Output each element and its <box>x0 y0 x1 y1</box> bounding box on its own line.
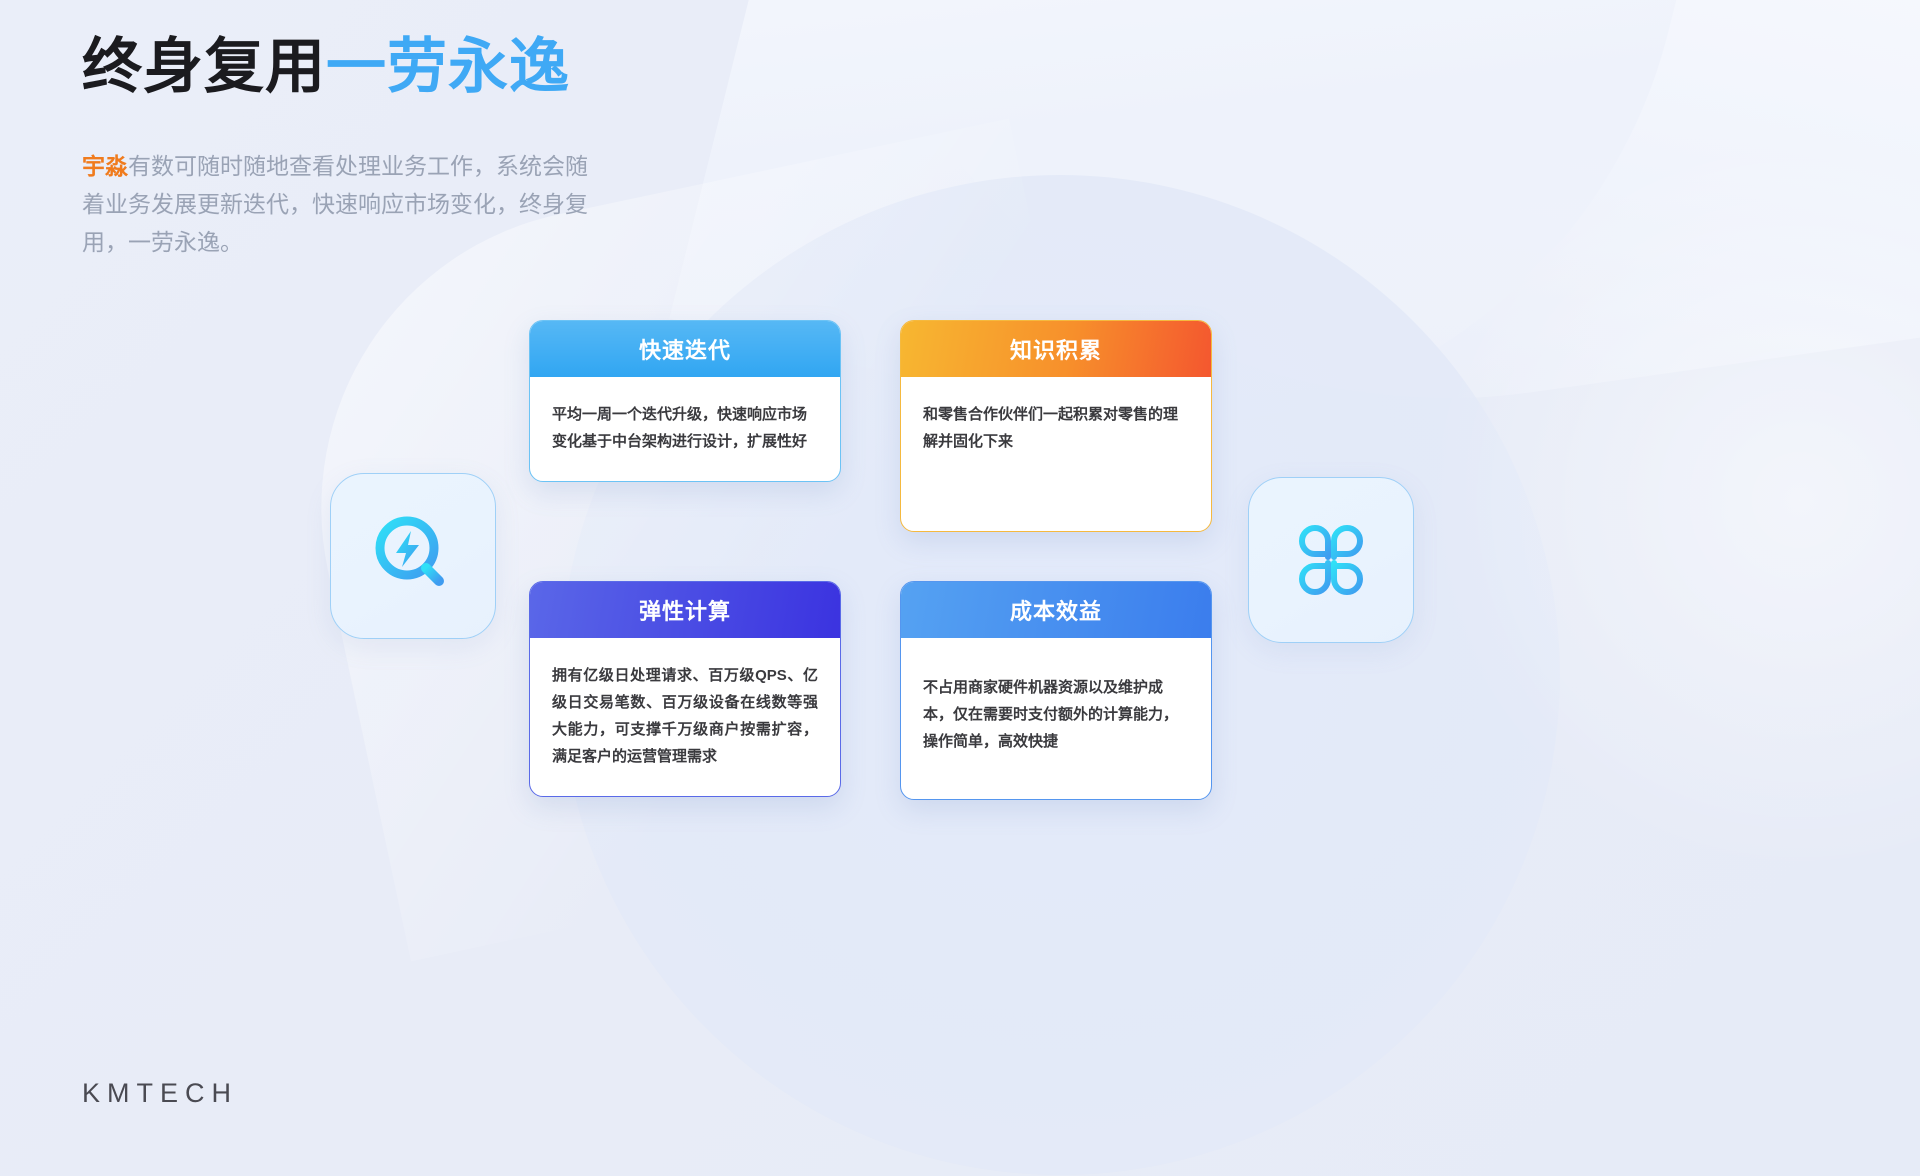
feature-card-cost-benefit[interactable]: 成本效益 不占用商家硬件机器资源以及维护成本，仅在需要时支付额外的计算能力，操作… <box>900 581 1212 800</box>
feature-card-elastic-computing[interactable]: 弹性计算 拥有亿级日处理请求、百万级QPS、亿级日交易笔数、百万级设备在线数等强… <box>529 581 841 797</box>
card-body-cost-benefit: 不占用商家硬件机器资源以及维护成本，仅在需要时支付额外的计算能力，操作简单，高效… <box>901 638 1211 799</box>
card-title-elastic-computing: 弹性计算 <box>530 582 840 638</box>
page-title-blue-part: 一劳永逸 <box>326 33 570 100</box>
page-title-dark-part: 终身复用 <box>82 33 326 100</box>
search-lightning-icon-tile <box>330 473 496 639</box>
subtitle-text: 有数可随时随地查看处理业务工作，系统会随着业务发展更新迭代，快速响应市场变化，终… <box>82 153 588 255</box>
subtitle-paragraph: 宇淼有数可随时随地查看处理业务工作，系统会随着业务发展更新迭代，快速响应市场变化… <box>82 147 602 261</box>
header-block: 终身复用一劳永逸 宇淼有数可随时随地查看处理业务工作，系统会随着业务发展更新迭代… <box>82 32 722 261</box>
brand-logo: KMTECH <box>82 1078 238 1109</box>
page-title: 终身复用一劳永逸 <box>82 32 722 101</box>
clover-four-petal-icon <box>1288 517 1374 603</box>
card-body-fast-iteration: 平均一周一个迭代升级，快速响应市场变化基于中台架构进行设计，扩展性好 <box>530 377 840 481</box>
search-lightning-icon <box>370 513 456 599</box>
feature-card-fast-iteration[interactable]: 快速迭代 平均一周一个迭代升级，快速响应市场变化基于中台架构进行设计，扩展性好 <box>529 320 841 482</box>
card-title-knowledge: 知识积累 <box>901 321 1211 377</box>
brand-name-highlight: 宇淼 <box>82 153 128 179</box>
clover-four-petal-icon-tile <box>1248 477 1414 643</box>
feature-card-knowledge[interactable]: 知识积累 和零售合作伙伴们一起积累对零售的理解并固化下来 <box>900 320 1212 532</box>
slide-canvas: 终身复用一劳永逸 宇淼有数可随时随地查看处理业务工作，系统会随着业务发展更新迭代… <box>0 0 1920 1176</box>
card-title-fast-iteration: 快速迭代 <box>530 321 840 377</box>
card-body-elastic-computing: 拥有亿级日处理请求、百万级QPS、亿级日交易笔数、百万级设备在线数等强大能力，可… <box>530 638 840 796</box>
card-body-knowledge: 和零售合作伙伴们一起积累对零售的理解并固化下来 <box>901 377 1211 531</box>
card-title-cost-benefit: 成本效益 <box>901 582 1211 638</box>
